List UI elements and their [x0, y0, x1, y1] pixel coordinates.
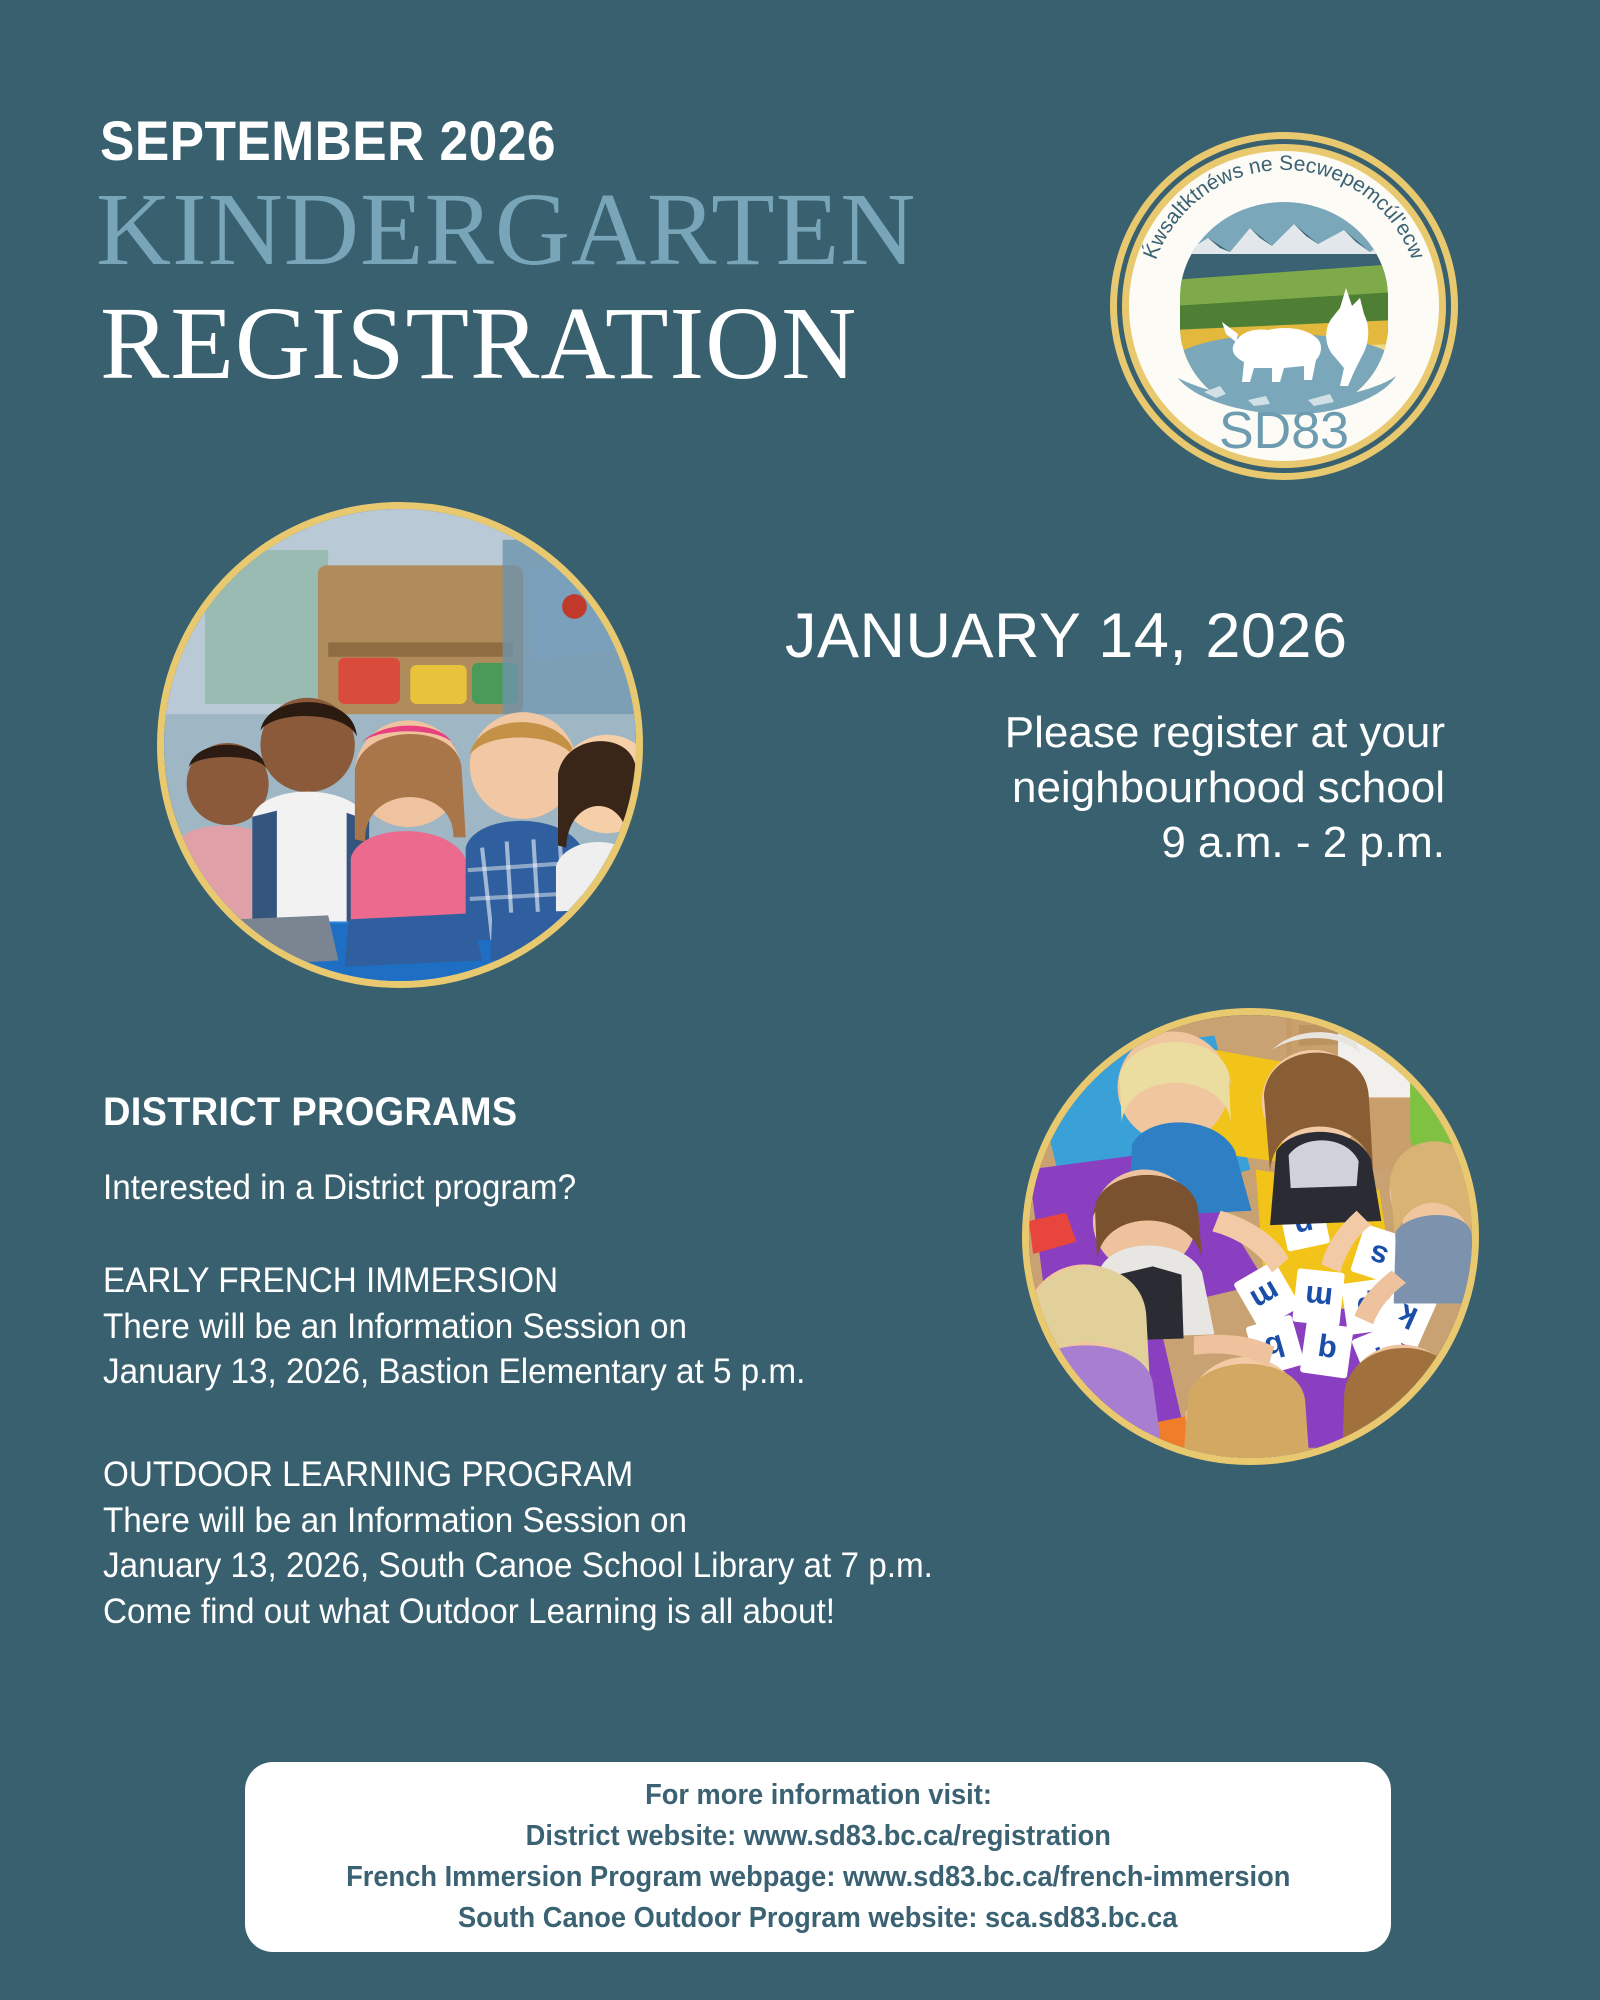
more-information-box: For more information visit: District web… — [245, 1762, 1391, 1952]
photo-two-image: n s m m p k b q f — [1029, 1015, 1472, 1458]
registration-detail-line-2: neighbourhood school — [745, 760, 1445, 815]
program-ol-line-1: There will be an Information Session on — [103, 1498, 933, 1544]
page-title-registration: REGISTRATION — [100, 292, 857, 396]
page-eyebrow-month-year: SEPTEMBER 2026 — [100, 108, 556, 173]
sd83-logo: Ḱwsaltktnéws ne Secwepemcúl'ecw SD83 — [1108, 130, 1460, 482]
photo-one-image — [164, 509, 636, 981]
program-ol-name: OUTDOOR LEARNING PROGRAM — [103, 1452, 933, 1498]
logo-district-code: SD83 — [1219, 402, 1349, 460]
registration-details: Please register at your neighbourhood sc… — [745, 705, 1445, 870]
district-programs-heading: DISTRICT PROGRAMS — [103, 1090, 517, 1135]
program-early-french-immersion: EARLY FRENCH IMMERSION There will be an … — [103, 1258, 805, 1395]
district-programs-question: Interested in a District program? — [103, 1168, 576, 1208]
footer-line-1: For more information visit: — [645, 1775, 992, 1816]
program-fi-name: EARLY FRENCH IMMERSION — [103, 1258, 805, 1304]
footer-line-3-french-immersion-webpage[interactable]: French Immersion Program webpage: www.sd… — [346, 1857, 1290, 1898]
program-fi-line-1: There will be an Information Session on — [103, 1304, 805, 1350]
registration-date: JANUARY 14, 2026 — [785, 600, 1445, 672]
page-title-kindergarten: KINDERGARTEN — [96, 178, 916, 282]
footer-line-2-district-website[interactable]: District website: www.sd83.bc.ca/registr… — [525, 1816, 1110, 1857]
program-outdoor-learning: OUTDOOR LEARNING PROGRAM There will be a… — [103, 1452, 933, 1634]
poster-canvas: SEPTEMBER 2026 KINDERGARTEN REGISTRATION — [0, 0, 1600, 2000]
footer-line-4-south-canoe-website[interactable]: South Canoe Outdoor Program website: sca… — [458, 1898, 1178, 1939]
photo-children-letter-cards: n s m m p k b q f — [1022, 1008, 1479, 1465]
program-ol-line-2: January 13, 2026, South Canoe School Lib… — [103, 1543, 933, 1589]
registration-detail-line-3: 9 a.m. - 2 p.m. — [745, 815, 1445, 870]
program-fi-line-2: January 13, 2026, Bastion Elementary at … — [103, 1349, 805, 1395]
registration-detail-line-1: Please register at your — [745, 705, 1445, 760]
svg-text:m: m — [1303, 1279, 1334, 1317]
photo-kindergarten-classroom — [157, 502, 643, 988]
program-ol-line-3: Come find out what Outdoor Learning is a… — [103, 1589, 933, 1635]
